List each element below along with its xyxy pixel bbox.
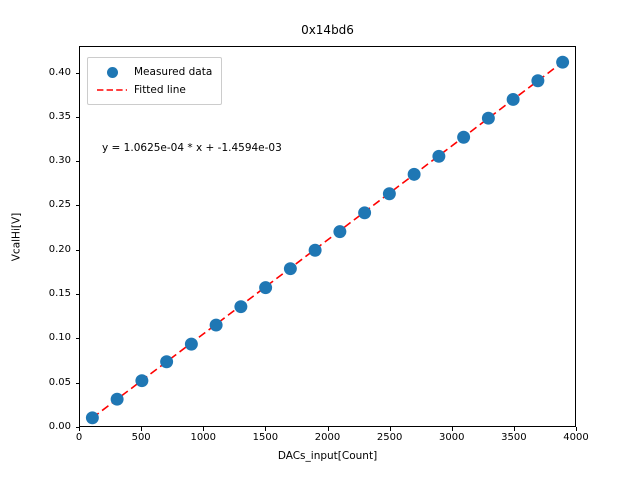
data-point-marker — [160, 355, 173, 368]
y-tick-label: 0.05 — [49, 377, 71, 389]
legend-label-measured-data: Measured data — [129, 66, 212, 78]
data-point-marker — [185, 338, 198, 351]
x-tick-mark — [452, 427, 453, 431]
y-tick-label: 0.25 — [49, 199, 71, 211]
circle-marker-icon — [95, 67, 129, 78]
y-tick-mark — [76, 338, 80, 339]
data-point-marker — [482, 112, 495, 125]
y-tick-label: 0.30 — [49, 155, 71, 167]
fit-equation-annotation: y = 1.0625e-04 * x + -1.4594e-03 — [102, 142, 282, 154]
data-point-marker — [358, 206, 371, 219]
x-tick-label: 500 — [132, 432, 151, 444]
y-tick-label: 0.40 — [49, 67, 71, 79]
y-tick-mark — [76, 250, 80, 251]
y-tick-label: 0.35 — [49, 111, 71, 123]
data-point-marker — [457, 131, 470, 144]
y-tick-mark — [76, 383, 80, 384]
x-tick-mark — [203, 427, 204, 431]
y-axis-label: VcalHi[V] — [9, 46, 23, 427]
x-tick-label: 1500 — [253, 432, 278, 444]
x-tick-label: 2000 — [315, 432, 340, 444]
data-point-marker — [531, 74, 544, 87]
data-point-marker — [432, 150, 445, 163]
data-point-marker — [234, 300, 247, 313]
x-tick-label: 2500 — [377, 432, 402, 444]
data-point-marker — [135, 374, 148, 387]
y-axis-label-text: VcalHi[V] — [10, 212, 22, 261]
data-point-marker — [309, 244, 322, 257]
dashed-line-icon — [95, 85, 129, 95]
x-tick-label: 1000 — [191, 432, 216, 444]
x-tick-mark — [141, 427, 142, 431]
data-point-marker — [408, 168, 421, 181]
y-tick-mark — [76, 117, 80, 118]
data-point-marker — [383, 187, 396, 200]
y-tick-mark — [76, 427, 80, 428]
y-tick-label: 0.00 — [49, 421, 71, 433]
legend-label-fitted-line: Fitted line — [129, 84, 186, 96]
data-point-marker — [111, 393, 124, 406]
x-tick-label: 3500 — [501, 432, 526, 444]
x-axis-label: DACs_input[Count] — [79, 450, 576, 462]
legend-item-fitted-line: Fitted line — [95, 81, 212, 99]
data-point-marker — [284, 262, 297, 275]
y-tick-mark — [76, 294, 80, 295]
data-point-marker — [333, 225, 346, 238]
y-tick-label: 0.20 — [49, 244, 71, 256]
data-point-marker — [86, 411, 99, 424]
data-point-marker — [556, 56, 569, 69]
x-tick-mark — [79, 427, 80, 431]
y-tick-mark — [76, 205, 80, 206]
y-tick-label: 0.10 — [49, 332, 71, 344]
x-tick-mark — [390, 427, 391, 431]
chart-legend: Measured data Fitted line — [87, 57, 222, 105]
data-point-marker — [507, 93, 520, 106]
y-tick-mark — [76, 73, 80, 74]
x-tick-mark — [328, 427, 329, 431]
x-tick-label: 4000 — [563, 432, 588, 444]
x-tick-mark — [576, 427, 577, 431]
data-point-marker — [210, 319, 223, 332]
x-tick-label: 3000 — [439, 432, 464, 444]
x-tick-label: 0 — [76, 432, 82, 444]
y-tick-label: 0.15 — [49, 288, 71, 300]
plot-axes: y = 1.0625e-04 * x + -1.4594e-03 Measure… — [79, 46, 576, 427]
legend-item-measured-data: Measured data — [95, 63, 212, 81]
data-point-marker — [259, 281, 272, 294]
x-tick-mark — [265, 427, 266, 431]
page-title: 0x14bd6 — [79, 22, 576, 38]
matplotlib-figure: 0x14bd6 y = 1.0625e-04 * x + -1.4594e-03… — [0, 0, 640, 480]
x-tick-mark — [514, 427, 515, 431]
y-tick-mark — [76, 161, 80, 162]
